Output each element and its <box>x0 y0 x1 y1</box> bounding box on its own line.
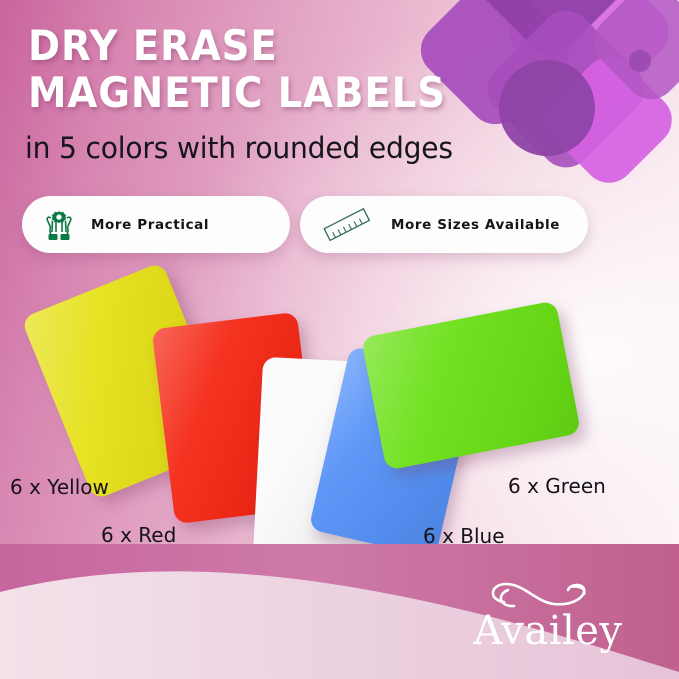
badge-more-sizes-label: More Sizes Available <box>391 217 560 233</box>
product-card-green <box>361 300 581 470</box>
badge-more-sizes-available[interactable]: More Sizes Available <box>300 196 588 253</box>
badge-more-practical-label: More Practical <box>91 217 209 233</box>
ruler-icon <box>316 203 378 247</box>
badge-more-practical[interactable]: More Practical <box>22 196 290 253</box>
product-marketing-image: DRY ERASE MAGNETIC LABELS in 5 colors wi… <box>0 0 679 679</box>
page-subtitle: in 5 colors with rounded edges <box>25 131 453 165</box>
headline-line-1: DRY ERASE <box>28 22 460 69</box>
page-title: DRY ERASE MAGNETIC LABELS <box>28 22 498 116</box>
card-sheen <box>361 300 581 470</box>
card-label-yellow: 6 x Yellow <box>10 475 109 499</box>
brand-logo: Availey <box>443 575 653 653</box>
card-label-green: 6 x Green <box>508 474 606 498</box>
circle-shape-small <box>629 50 651 72</box>
hands-holding-gear-icon <box>40 205 78 245</box>
headline-line-2: MAGNETIC LABELS <box>28 69 460 116</box>
brand-name: Availey <box>443 609 653 653</box>
circle-shape-large <box>499 60 595 156</box>
